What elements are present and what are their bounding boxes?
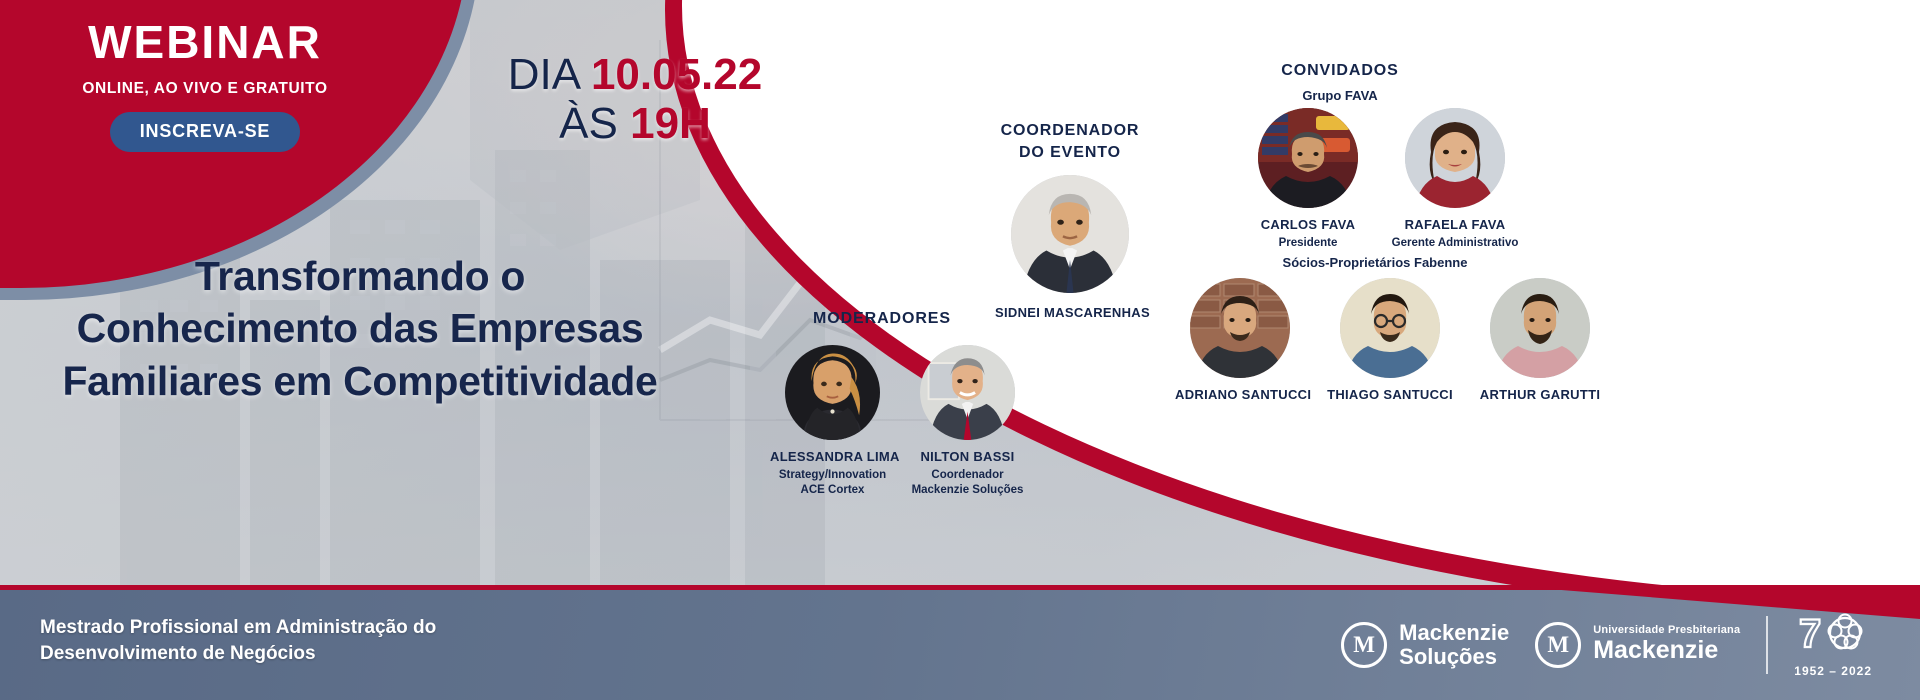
moderator-0: ALESSANDRA LIMA Strategy/Innovation ACE … (770, 345, 895, 498)
guest-fabenne-0: ADRIANO SANTUCCI (1175, 278, 1305, 403)
guest-name: ADRIANO SANTUCCI (1175, 387, 1305, 403)
avatar-photo (1490, 278, 1590, 378)
program-line-2: Desenvolvimento de Negócios (40, 641, 436, 667)
coordinator-person: SIDNEI MASCARENHAS (995, 175, 1145, 321)
footer-bar: Mestrado Profissional em Administração d… (0, 585, 1920, 700)
moderators-heading: MODERADORES (772, 310, 992, 328)
universidade-mackenzie-text: Universidade Presbiteriana Mackenzie (1593, 625, 1740, 664)
avatar-photo (1258, 108, 1358, 208)
moderator-1: NILTON BASSI Coordenador Mackenzie Soluç… (905, 345, 1030, 498)
avatar-photo (785, 345, 880, 440)
avatar (785, 345, 880, 440)
moderator-role-line2: ACE Cortex (770, 483, 895, 498)
guest-role: Presidente (1248, 236, 1368, 251)
inscreva-se-button[interactable]: INSCREVA-SE (110, 112, 301, 152)
guests-group-fabenne-label: Sócios-Proprietários Fabenne (1230, 255, 1520, 270)
logo1-line-1: Mackenzie (1399, 621, 1509, 645)
avatar (1258, 108, 1358, 208)
mackenzie-solucoes-text: Mackenzie Soluções (1399, 621, 1509, 669)
coordinator-heading-line2: DO EVENTO (940, 142, 1200, 164)
avatar-photo (1405, 108, 1505, 208)
webinar-banner: 3652575 4637457 1312658 1312658 3992002 … (0, 0, 1920, 700)
anniversary-mark: 7 1952 – 2022 (1794, 611, 1872, 678)
guest-role: Gerente Administrativo (1380, 236, 1530, 251)
guest-fava-0: CARLOS FAVA Presidente (1248, 108, 1368, 251)
headline-line-3: Familiares em Competitividade (30, 355, 690, 407)
headline-line-1: Transformando o (30, 250, 690, 302)
avatar-photo (1190, 278, 1290, 378)
guest-name: THIAGO SANTUCCI (1325, 387, 1455, 403)
guest-name: CARLOS FAVA (1248, 217, 1368, 233)
webinar-subtitle: ONLINE, AO VIVO E GRATUITO (40, 80, 370, 98)
moderator-role-line2: Mackenzie Soluções (905, 483, 1030, 498)
avatar-photo (1011, 175, 1129, 293)
universidade-mackenzie-logo: M Universidade Presbiteriana Mackenzie (1535, 622, 1740, 668)
avatar-photo (920, 345, 1015, 440)
event-date-line: DIA 10.05.22 (470, 52, 800, 99)
avatar (1190, 278, 1290, 378)
guest-name: RAFAELA FAVA (1380, 217, 1530, 233)
logo2-line-2: Mackenzie (1593, 637, 1740, 664)
coordinator-heading-line1: COORDENADOR (940, 120, 1200, 142)
coordinator-heading: COORDENADOR DO EVENTO (940, 120, 1200, 163)
footer-logos: M Mackenzie Soluções M Universidade Pres… (1341, 611, 1872, 678)
speakers-content: MODERADORES ALESSANDRA LIMA Strategy/Inn (620, 0, 1920, 620)
webinar-title: WEBINAR (40, 18, 370, 66)
anniversary-years: 1952 – 2022 (1794, 664, 1872, 678)
headline-line-2: Conhecimento das Empresas (30, 302, 690, 354)
guest-fabenne-2: ARTHUR GARUTTI (1475, 278, 1605, 403)
guests-heading: CONVIDADOS (1220, 62, 1460, 80)
anniversary-70-icon: 7 (1797, 611, 1869, 657)
avatar-photo (1340, 278, 1440, 378)
guest-fava-1: RAFAELA FAVA Gerente Administrativo (1380, 108, 1530, 251)
avatar (1011, 175, 1129, 293)
moderator-role-line1: Coordenador (905, 468, 1030, 483)
event-time-value: 19H (630, 99, 711, 148)
logo-divider (1766, 616, 1768, 674)
guests-group-fava-label: Grupo FAVA (1220, 88, 1460, 103)
avatar (1405, 108, 1505, 208)
moderator-name: ALESSANDRA LIMA (770, 449, 895, 465)
logo1-line-2: Soluções (1399, 645, 1509, 669)
event-date-block: DIA 10.05.22 ÀS 19H (470, 52, 800, 147)
moderator-name: NILTON BASSI (905, 449, 1030, 465)
svg-text:7: 7 (1799, 612, 1821, 656)
mackenzie-m-icon: M (1341, 622, 1387, 668)
avatar (920, 345, 1015, 440)
avatar (1340, 278, 1440, 378)
event-time-prefix: ÀS (559, 99, 630, 148)
guest-fabenne-1: THIAGO SANTUCCI (1325, 278, 1455, 403)
webinar-badge: WEBINAR ONLINE, AO VIVO E GRATUITO INSCR… (40, 18, 370, 152)
coordinator-name: SIDNEI MASCARENHAS (995, 305, 1145, 321)
event-date-value: 10.05.22 (591, 50, 762, 99)
program-line-1: Mestrado Profissional em Administração d… (40, 615, 436, 641)
program-name: Mestrado Profissional em Administração d… (40, 615, 436, 666)
mackenzie-m-icon: M (1535, 622, 1581, 668)
event-date-prefix: DIA (508, 50, 591, 99)
event-headline: Transformando o Conhecimento das Empresa… (30, 250, 690, 407)
guest-name: ARTHUR GARUTTI (1475, 387, 1605, 403)
avatar (1490, 278, 1590, 378)
mackenzie-solucoes-logo: M Mackenzie Soluções (1341, 621, 1509, 669)
event-time-line: ÀS 19H (470, 101, 800, 148)
moderator-role-line1: Strategy/Innovation (770, 468, 895, 483)
